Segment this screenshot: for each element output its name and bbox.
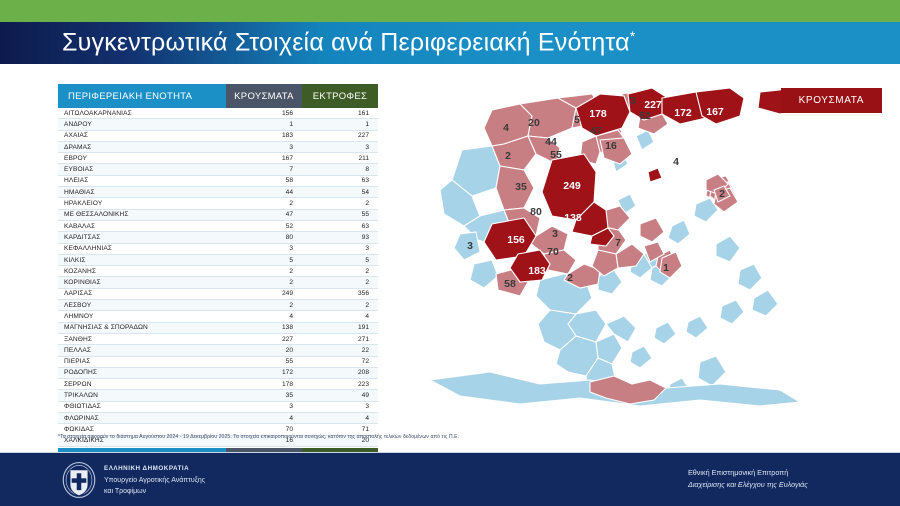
cell-region: ΕΒΡΟΥ bbox=[58, 155, 226, 162]
cell-region: ΚΟΖΑΝΗΣ bbox=[58, 268, 226, 275]
table-row: ΚΕΦΑΛΛΗΝΙΑΣ33 bbox=[58, 244, 378, 255]
cell-cases: 7 bbox=[226, 166, 302, 173]
cell-cases: 80 bbox=[226, 234, 302, 241]
cell-farms: 4 bbox=[302, 415, 378, 422]
cell-cases: 70 bbox=[226, 426, 302, 433]
table-row: ΛΑΡΙΣΑΣ249356 bbox=[58, 289, 378, 300]
cell-cases: 249 bbox=[226, 290, 302, 297]
map-label-chalkidiki: 16 bbox=[605, 140, 617, 152]
table-row: ΚΑΡΔΙΤΣΑΣ8093 bbox=[58, 232, 378, 243]
column-header-cases: ΚΡΟΥΣΜΑΤΑ bbox=[226, 84, 302, 108]
cell-region: ΚΙΛΚΙΣ bbox=[58, 257, 226, 264]
table-row: ΣΕΡΡΩΝ178223 bbox=[58, 379, 378, 390]
cell-region: ΦΩΚΙΔΑΣ bbox=[58, 426, 226, 433]
map-label-thessaloniki: 47 bbox=[590, 125, 602, 137]
committee-line-2: Διαχείρισης και Ελέγχου της Ευλογιάς bbox=[688, 479, 808, 491]
greece-map: ΚΡΟΥΣΜΑΤΑ 178322752172167205444471625524… bbox=[400, 84, 900, 424]
map-label-kavala: 52 bbox=[639, 110, 651, 122]
map-label-limnos: 4 bbox=[673, 156, 679, 168]
table-row: ΚΟΖΑΝΗΣ22 bbox=[58, 266, 378, 277]
cell-farms: 54 bbox=[302, 189, 378, 196]
page-title-text: Συγκεντρωτικά Στοιχεία ανά Περιφερειακή … bbox=[62, 28, 630, 56]
cell-region: ΡΟΔΟΠΗΣ bbox=[58, 369, 226, 376]
table-row: ΜΑΓΝΗΣΙΑΣ & ΣΠΟΡΑΔΩΝ138191 bbox=[58, 323, 378, 334]
summary-table: ΠΕΡΙΦΕΡΕΙΑΚΗ ΕΝΟΤΗΤΑ ΚΡΟΥΣΜΑΤΑ ΕΚΤΡΟΦΕΣ … bbox=[58, 84, 378, 475]
table-row: ΡΟΔΟΠΗΣ172208 bbox=[58, 368, 378, 379]
cell-cases: 2 bbox=[226, 302, 302, 309]
map-label-imathia: 44 bbox=[545, 136, 557, 148]
cell-region: ΦΘΙΩΤΙΔΑΣ bbox=[58, 403, 226, 410]
cell-cases: 3 bbox=[226, 245, 302, 252]
cell-region: ΜΑΓΝΗΣΙΑΣ & ΣΠΟΡΑΔΩΝ bbox=[58, 324, 226, 331]
cell-region: ΗΜΑΘΙΑΣ bbox=[58, 189, 226, 196]
government-block: ΕΛΛΗΝΙΚΗ ΔΗΜΟΚΡΑΤΙΑ Υπουργείο Αγροτικής … bbox=[104, 463, 205, 498]
cell-farms: 8 bbox=[302, 166, 378, 173]
table-row: ΕΥΒΟΙΑΣ78 bbox=[58, 164, 378, 175]
cell-farms: 356 bbox=[302, 290, 378, 297]
cell-region: ΑΝΔΡΟΥ bbox=[58, 121, 226, 128]
cell-farms: 3 bbox=[302, 144, 378, 151]
cell-farms: 223 bbox=[302, 381, 378, 388]
map-label-kefallinia: 3 bbox=[467, 240, 473, 252]
map-label-trikala: 35 bbox=[515, 181, 527, 193]
cell-region: ΛΗΜΝΟΥ bbox=[58, 313, 226, 320]
map-label-kilkis: 5 bbox=[574, 114, 580, 126]
map-label-aitoloakarnania: 156 bbox=[507, 234, 525, 246]
cell-cases: 4 bbox=[226, 313, 302, 320]
map-label-andros: 1 bbox=[663, 262, 669, 274]
cell-cases: 227 bbox=[226, 336, 302, 343]
cell-farms: 63 bbox=[302, 223, 378, 230]
table-row: ΛΗΜΝΟΥ44 bbox=[58, 311, 378, 322]
table-row: ΜΕ ΘΕΣΣΑΛΟΝΙΚΗΣ4755 bbox=[58, 210, 378, 221]
table-row: ΗΜΑΘΙΑΣ4454 bbox=[58, 187, 378, 198]
gov-line-3: και Τροφίμων bbox=[104, 486, 205, 498]
cell-region: ΣΕΡΡΩΝ bbox=[58, 381, 226, 388]
map-label-karditsa: 80 bbox=[530, 206, 542, 218]
cell-cases: 1 bbox=[226, 121, 302, 128]
cell-farms: 71 bbox=[302, 426, 378, 433]
map-label-pieria: 55 bbox=[550, 149, 562, 161]
cell-region: ΠΙΕΡΙΑΣ bbox=[58, 358, 226, 365]
map-label-magnisia: 138 bbox=[564, 212, 582, 224]
map-label-drama: 3 bbox=[630, 95, 636, 107]
table-row: ΠΕΛΛΑΣ2022 bbox=[58, 345, 378, 356]
table-row: ΚΙΛΚΙΣ55 bbox=[58, 255, 378, 266]
cell-cases: 58 bbox=[226, 177, 302, 184]
cell-cases: 2 bbox=[226, 268, 302, 275]
table-row: ΑΝΔΡΟΥ11 bbox=[58, 119, 378, 130]
cell-region: ΕΥΒΟΙΑΣ bbox=[58, 166, 226, 173]
map-label-rodopi: 172 bbox=[674, 107, 692, 119]
table-row: ΠΙΕΡΙΑΣ5572 bbox=[58, 357, 378, 368]
table-row: ΚΑΒΑΛΑΣ5263 bbox=[58, 221, 378, 232]
hellenic-republic-emblem-icon bbox=[62, 462, 96, 498]
cell-cases: 47 bbox=[226, 211, 302, 218]
map-label-achaia: 183 bbox=[528, 265, 546, 277]
cell-cases: 55 bbox=[226, 358, 302, 365]
cell-region: ΚΑΒΑΛΑΣ bbox=[58, 223, 226, 230]
map-label-kozani: 2 bbox=[505, 150, 511, 162]
cell-region: ΞΑΝΘΗΣ bbox=[58, 336, 226, 343]
table-row: ΚΟΡΙΝΘΙΑΣ22 bbox=[58, 277, 378, 288]
table-row: ΑΧΑΪΑΣ183227 bbox=[58, 131, 378, 142]
cell-farms: 4 bbox=[302, 313, 378, 320]
cell-cases: 20 bbox=[226, 347, 302, 354]
cell-cases: 35 bbox=[226, 392, 302, 399]
cell-farms: 5 bbox=[302, 257, 378, 264]
cell-farms: 2 bbox=[302, 279, 378, 286]
column-header-farms: ΕΚΤΡΟΦΕΣ bbox=[302, 84, 378, 108]
cell-cases: 5 bbox=[226, 257, 302, 264]
committee-block: Εθνική Επιστημονική Επιτροπή Διαχείρισης… bbox=[688, 467, 808, 491]
table-row: ΦΘΙΩΤΙΔΑΣ33 bbox=[58, 402, 378, 413]
cell-cases: 44 bbox=[226, 189, 302, 196]
page-title-asterisk: * bbox=[630, 28, 636, 44]
map-label-fthiotida: 3 bbox=[552, 228, 558, 240]
cell-region: ΠΕΛΛΑΣ bbox=[58, 347, 226, 354]
cell-farms: 2 bbox=[302, 302, 378, 309]
cell-cases: 2 bbox=[226, 200, 302, 207]
table-body: ΑΙΤΩΛΟΑΚΑΡΝΑΝΙΑΣ156161ΑΝΔΡΟΥ11ΑΧΑΪΑΣ1832… bbox=[58, 108, 378, 447]
cell-farms: 227 bbox=[302, 132, 378, 139]
cell-region: ΑΧΑΪΑΣ bbox=[58, 132, 226, 139]
cell-farms: 2 bbox=[302, 268, 378, 275]
cell-cases: 2 bbox=[226, 279, 302, 286]
cell-farms: 22 bbox=[302, 347, 378, 354]
table-row: ΔΡΑΜΑΣ33 bbox=[58, 142, 378, 153]
map-label-lesvos: 2 bbox=[719, 188, 725, 200]
table-row: ΦΛΩΡΙΝΑΣ44 bbox=[58, 413, 378, 424]
table-row: ΛΕΣΒΟΥ22 bbox=[58, 300, 378, 311]
cell-cases: 156 bbox=[226, 110, 302, 117]
cell-cases: 4 bbox=[226, 415, 302, 422]
cell-region: ΛΕΣΒΟΥ bbox=[58, 302, 226, 309]
map-label-pella: 20 bbox=[528, 117, 540, 129]
cell-region: ΚΟΡΙΝΘΙΑΣ bbox=[58, 279, 226, 286]
map-label-florina: 4 bbox=[503, 122, 509, 134]
cell-region: ΛΑΡΙΣΑΣ bbox=[58, 290, 226, 297]
cell-region: ΗΛΕΙΑΣ bbox=[58, 177, 226, 184]
cell-cases: 183 bbox=[226, 132, 302, 139]
cell-cases: 178 bbox=[226, 381, 302, 388]
cell-cases: 3 bbox=[226, 144, 302, 151]
gov-line-1: ΕΛΛΗΝΙΚΗ ΔΗΜΟΚΡΑΤΙΑ bbox=[104, 463, 205, 475]
map-label-larisa: 249 bbox=[563, 180, 581, 192]
map-label-korinthia: 2 bbox=[567, 272, 573, 284]
column-header-region: ΠΕΡΙΦΕΡΕΙΑΚΗ ΕΝΟΤΗΤΑ bbox=[58, 84, 226, 108]
cell-region: ΔΡΑΜΑΣ bbox=[58, 144, 226, 151]
top-green-band bbox=[0, 0, 900, 22]
cell-region: ΤΡΙΚΑΛΩΝ bbox=[58, 392, 226, 399]
map-svg bbox=[400, 84, 900, 424]
cell-region: ΑΙΤΩΛΟΑΚΑΡΝΑΝΙΑΣ bbox=[58, 110, 226, 117]
table-row: ΗΡΑΚΛΕΙΟΥ22 bbox=[58, 198, 378, 209]
map-legend-badge: ΚΡΟΥΣΜΑΤΑ bbox=[781, 88, 882, 113]
page-title: Συγκεντρωτικά Στοιχεία ανά Περιφερειακή … bbox=[62, 28, 635, 57]
cell-farms: 191 bbox=[302, 324, 378, 331]
cell-farms: 208 bbox=[302, 369, 378, 376]
cell-region: ΚΑΡΔΙΤΣΑΣ bbox=[58, 234, 226, 241]
table-row: ΗΛΕΙΑΣ5863 bbox=[58, 176, 378, 187]
cell-farms: 49 bbox=[302, 392, 378, 399]
map-label-ileia: 58 bbox=[504, 278, 516, 290]
table-row: ΞΑΝΘΗΣ227271 bbox=[58, 334, 378, 345]
cell-farms: 2 bbox=[302, 200, 378, 207]
cell-region: ΗΡΑΚΛΕΙΟΥ bbox=[58, 200, 226, 207]
cell-region: ΜΕ ΘΕΣΣΑΛΟΝΙΚΗΣ bbox=[58, 211, 226, 218]
cell-cases: 52 bbox=[226, 223, 302, 230]
table-row: ΕΒΡΟΥ167211 bbox=[58, 153, 378, 164]
map-label-serres: 178 bbox=[589, 108, 607, 120]
committee-line-1: Εθνική Επιστημονική Επιτροπή bbox=[688, 467, 808, 479]
infographic-page: Συγκεντρωτικά Στοιχεία ανά Περιφερειακή … bbox=[0, 0, 900, 506]
table-row: ΤΡΙΚΑΛΩΝ3549 bbox=[58, 390, 378, 401]
cell-farms: 211 bbox=[302, 155, 378, 162]
map-label-fokida: 70 bbox=[547, 246, 559, 258]
cell-farms: 3 bbox=[302, 403, 378, 410]
map-label-evros: 167 bbox=[706, 106, 724, 118]
cell-farms: 63 bbox=[302, 177, 378, 184]
cell-farms: 161 bbox=[302, 110, 378, 117]
cell-cases: 167 bbox=[226, 155, 302, 162]
cell-farms: 93 bbox=[302, 234, 378, 241]
cell-farms: 72 bbox=[302, 358, 378, 365]
cell-region: ΦΛΩΡΙΝΑΣ bbox=[58, 415, 226, 422]
cell-farms: 271 bbox=[302, 336, 378, 343]
table-row: ΑΙΤΩΛΟΑΚΑΡΝΑΝΙΑΣ156161 bbox=[58, 108, 378, 119]
cell-farms: 3 bbox=[302, 245, 378, 252]
footnote-text: *Τα στοιχεία αφορούν το διάστημα Αυγούστ… bbox=[58, 434, 758, 440]
cell-cases: 3 bbox=[226, 403, 302, 410]
map-label-evvoia: 7 bbox=[615, 237, 621, 249]
cell-farms: 55 bbox=[302, 211, 378, 218]
cell-cases: 172 bbox=[226, 369, 302, 376]
cell-region: ΚΕΦΑΛΛΗΝΙΑΣ bbox=[58, 245, 226, 252]
gov-line-2: Υπουργείο Αγροτικής Ανάπτυξης bbox=[104, 475, 205, 487]
table-header-row: ΠΕΡΙΦΕΡΕΙΑΚΗ ΕΝΟΤΗΤΑ ΚΡΟΥΣΜΑΤΑ ΕΚΤΡΟΦΕΣ bbox=[58, 84, 378, 108]
cell-farms: 1 bbox=[302, 121, 378, 128]
cell-cases: 138 bbox=[226, 324, 302, 331]
